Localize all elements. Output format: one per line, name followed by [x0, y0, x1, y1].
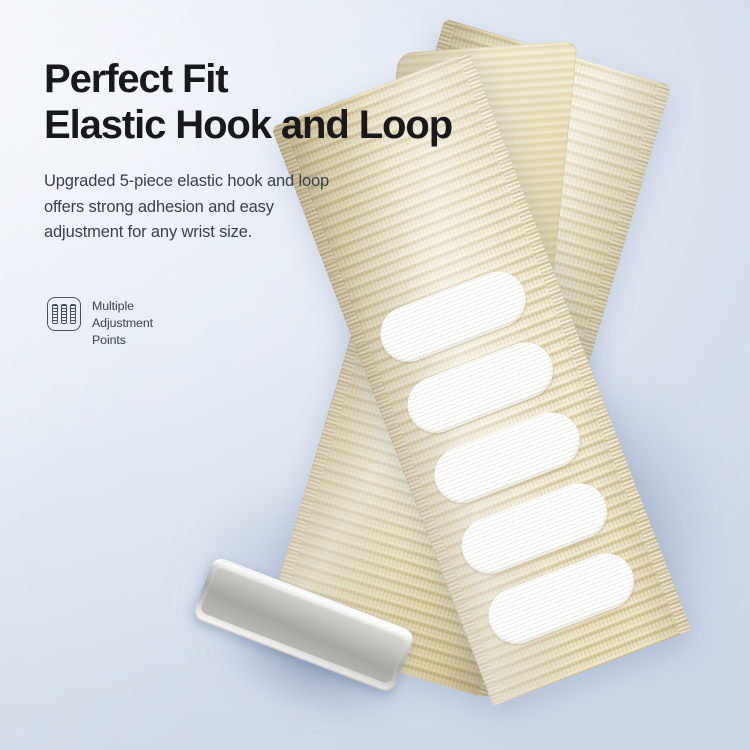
headline-line-2: Elastic Hook and Loop — [44, 102, 514, 148]
description-line-1: Upgraded 5-piece elastic hook and loop — [44, 169, 374, 195]
headline-line-1: Perfect Fit — [44, 57, 228, 101]
page-title: Perfect Fit Elastic Hook and Loop — [44, 56, 514, 149]
description-text: Upgraded 5-piece elastic hook and loop o… — [44, 169, 374, 246]
product-hero-image: Perfect Fit Elastic Hook and Loop Upgrad… — [0, 0, 750, 750]
feature-label: Multiple Adjustment Points — [92, 297, 153, 349]
feature-label-line-2: Adjustment — [92, 315, 153, 332]
icon-strip — [61, 304, 67, 324]
adjustment-strips-icon — [47, 297, 81, 331]
icon-strip — [70, 304, 76, 324]
description-line-2: offers strong adhesion and easy — [44, 195, 374, 221]
feature-label-line-3: Points — [92, 332, 153, 349]
icon-strip — [52, 304, 58, 324]
description-line-3: adjustment for any wrist size. — [44, 220, 374, 246]
feature-label-line-1: Multiple — [92, 298, 153, 315]
feature-callout: Multiple Adjustment Points — [47, 297, 153, 349]
copy-block: Perfect Fit Elastic Hook and Loop Upgrad… — [44, 56, 514, 246]
